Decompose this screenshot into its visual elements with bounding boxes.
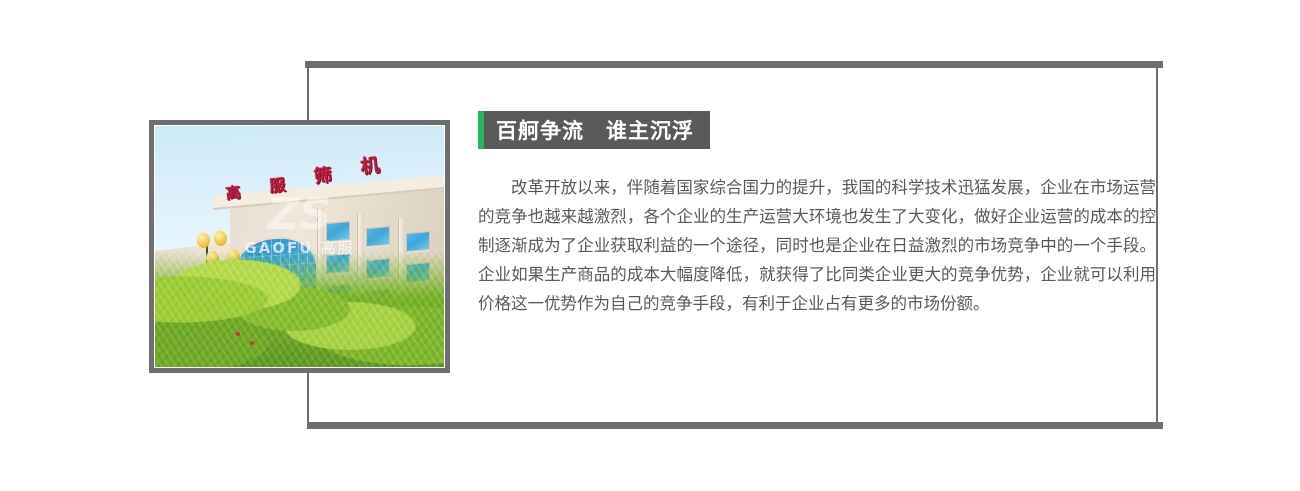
page-title: 百舸争流 谁主沉浮 (496, 115, 694, 145)
rooftop-sign-char: 筛 (313, 167, 333, 187)
photo-lamp-globe (214, 231, 227, 246)
frame-edge-bottom (307, 422, 1163, 429)
rooftop-sign-char: 机 (360, 157, 381, 178)
rooftop-sign-char: 高 (225, 186, 242, 203)
photo-window (406, 231, 430, 252)
company-photo-card: 高 服 筛 机 ZS GAOFU 高服 (149, 120, 450, 373)
photo-flower (236, 332, 240, 336)
frame-edge-top (305, 61, 1163, 68)
photo-window (366, 226, 390, 247)
photo-foliage-texture (155, 251, 444, 367)
photo-window (326, 221, 350, 242)
company-building-photo: 高 服 筛 机 ZS GAOFU 高服 (155, 126, 444, 367)
article-body-paragraph: 改革开放以来，伴随着国家综合国力的提升，我国的科学技术迅猛发展，企业在市场运营的… (478, 173, 1156, 318)
article-title-bar: 百舸争流 谁主沉浮 (478, 111, 710, 149)
rooftop-sign-char: 服 (269, 177, 287, 195)
article-content: 百舸争流 谁主沉浮 改革开放以来，伴随着国家综合国力的提升，我国的科学技术迅猛发… (478, 111, 1158, 335)
